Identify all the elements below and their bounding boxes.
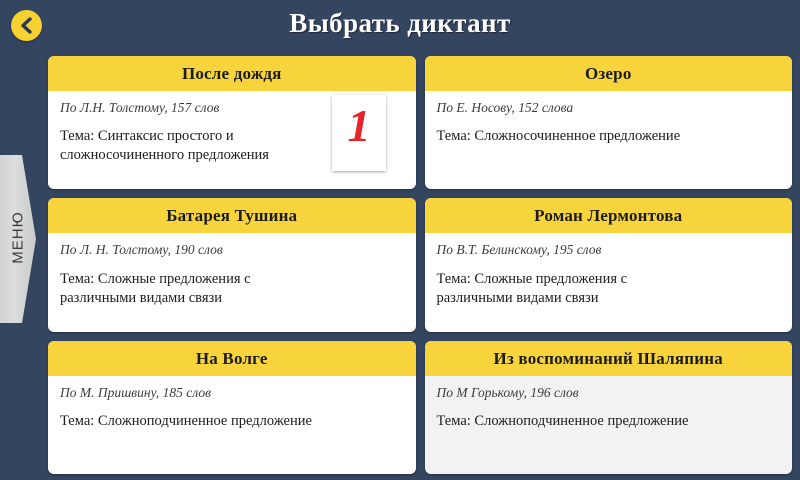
dictation-card-author: По М. Пришвину, 185 слов	[60, 385, 404, 401]
dictation-card-title: Из воспоминаний Шаляпина	[425, 341, 793, 376]
dictation-card[interactable]: Роман Лермонтова По В.Т. Белинскому, 195…	[425, 198, 793, 331]
dictation-card-title: Батарея Тушина	[48, 198, 416, 233]
dictation-card-author: По Е. Носову, 152 слова	[437, 100, 781, 116]
dictation-card-topic: Тема: Сложноподчиненное предложение	[60, 412, 330, 431]
dictation-card-topic: Тема: Сложные предложения с различными в…	[60, 270, 330, 308]
dictation-card-title: Озеро	[425, 56, 793, 91]
dictation-card-body: По Е. Носову, 152 слова Тема: Сложносочи…	[425, 91, 793, 189]
dictation-card-body: По Л. Н. Толстому, 190 слов Тема: Сложны…	[48, 233, 416, 331]
dictation-card-topic: Тема: Сложноподчиненное предложение	[437, 412, 707, 431]
app-header: Выбрать диктант	[0, 0, 800, 50]
dictation-card[interactable]: После дождя По Л.Н. Толстому, 157 слов Т…	[48, 56, 416, 189]
dictation-card-title: На Волге	[48, 341, 416, 376]
dictation-card-body: По М Горькому, 196 слов Тема: Сложноподч…	[425, 376, 793, 474]
dictation-card-body: По М. Пришвину, 185 слов Тема: Сложнопод…	[48, 376, 416, 474]
dictation-card-author: По Л.Н. Толстому, 157 слов	[60, 100, 404, 116]
dictation-card[interactable]: Батарея Тушина По Л. Н. Толстому, 190 сл…	[48, 198, 416, 331]
dictation-card-body: По Л.Н. Толстому, 157 слов Тема: Синтакс…	[48, 91, 416, 189]
dictation-card-topic: Тема: Сложносочиненное предложение	[437, 127, 707, 146]
dictation-card-author: По Л. Н. Толстому, 190 слов	[60, 242, 404, 258]
menu-tab[interactable]: МЕНЮ	[0, 155, 36, 323]
dictation-card-title: После дождя	[48, 56, 416, 91]
dictation-card[interactable]: Из воспоминаний Шаляпина По М Горькому, …	[425, 341, 793, 474]
dictation-card-title: Роман Лермонтова	[425, 198, 793, 233]
menu-tab-label: МЕНЮ	[10, 163, 27, 313]
dictation-card-grid: После дождя По Л.Н. Толстому, 157 слов Т…	[48, 56, 792, 474]
dictation-card-author: По М Горькому, 196 слов	[437, 385, 781, 401]
dictation-card[interactable]: На Волге По М. Пришвину, 185 слов Тема: …	[48, 341, 416, 474]
dictation-card-author: По В.Т. Белинскому, 195 слов	[437, 242, 781, 258]
dictation-card[interactable]: Озеро По Е. Носову, 152 слова Тема: Слож…	[425, 56, 793, 189]
dictation-selection-screen: Выбрать диктант МЕНЮ После дождя По Л.Н.…	[0, 0, 800, 480]
dictation-card-body: По В.Т. Белинскому, 195 слов Тема: Сложн…	[425, 233, 793, 331]
page-title: Выбрать диктант	[0, 8, 800, 39]
dictation-card-topic: Тема: Синтаксис простого и сложносочинен…	[60, 127, 330, 165]
dictation-card-topic: Тема: Сложные предложения с различными в…	[437, 270, 707, 308]
